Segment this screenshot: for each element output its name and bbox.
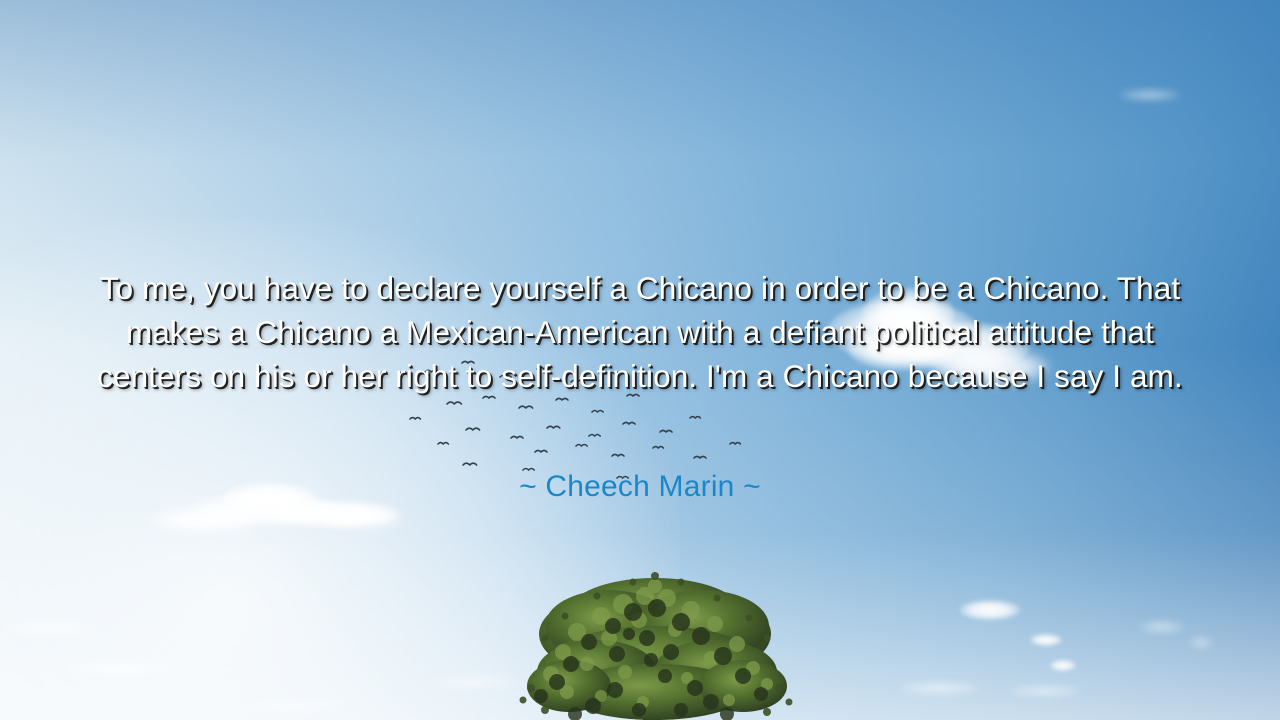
quote-text: To me, you have to declare yourself a Ch…	[75, 266, 1205, 398]
quote-block: To me, you have to declare yourself a Ch…	[75, 266, 1205, 398]
author-attribution: ~ Cheech Marin ~	[190, 468, 1090, 506]
tree-silhouette-icon	[505, 568, 805, 720]
author-block: ~ Cheech Marin ~	[190, 468, 1090, 506]
quote-image-canvas: To me, you have to declare yourself a Ch…	[0, 0, 1280, 720]
